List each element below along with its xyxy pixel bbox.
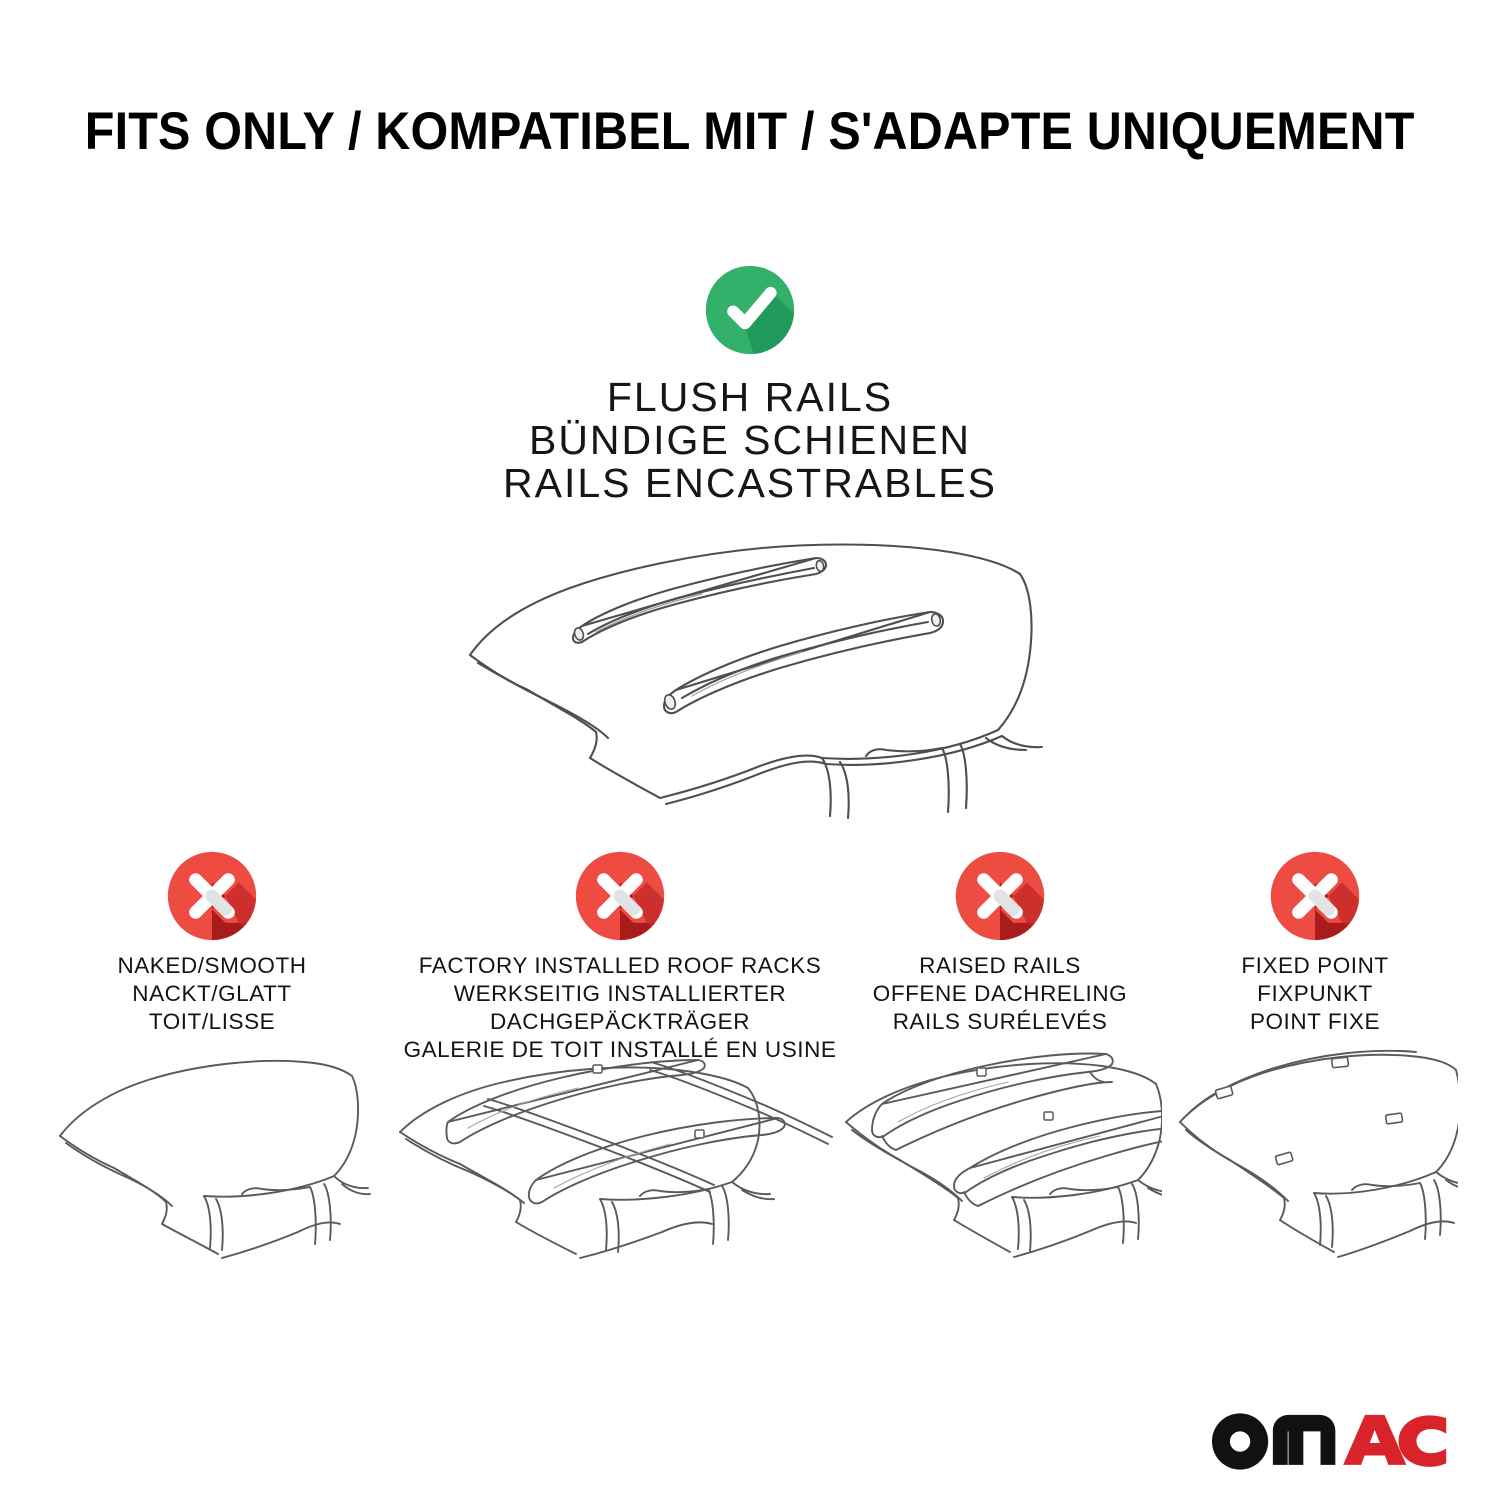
incompatible-section: NAKED/SMOOTH NACKT/GLATT TOIT/LISSE	[0, 848, 1500, 1308]
red-cross-circle-icon	[572, 848, 668, 944]
incompatible-item-factory-roof-racks: FACTORY INSTALLED ROOF RACKS WERKSEITIG …	[392, 848, 848, 1064]
badge-wrap	[1172, 848, 1458, 952]
badge-wrap	[838, 848, 1162, 952]
compatible-heading: FLUSH RAILS BÜNDIGE SCHIENEN RAILS ENCAS…	[0, 376, 1500, 505]
red-cross-circle-icon	[952, 848, 1048, 944]
car-roof-factory-rack-illustration	[392, 1044, 848, 1259]
red-cross-circle-icon	[1267, 848, 1363, 944]
car-roof-raised-rails-illustration	[838, 1044, 1162, 1259]
red-cross-circle-icon	[164, 848, 260, 944]
page-title: FITS ONLY / KOMPATIBEL MIT / S'ADAPTE UN…	[85, 104, 1415, 160]
omac-logo	[1212, 1408, 1448, 1478]
badge-wrap	[392, 848, 848, 952]
incompatible-item-raised-rails: RAISED RAILS OFFENE DACHRELING RAILS SUR…	[838, 848, 1162, 1036]
car-roof-flush-rails-illustration	[430, 500, 1090, 820]
incompatible-label: RAISED RAILS OFFENE DACHRELING RAILS SUR…	[838, 952, 1162, 1036]
incompatible-item-naked-smooth: NAKED/SMOOTH NACKT/GLATT TOIT/LISSE	[52, 848, 372, 1036]
incompatible-label: FIXED POINT FIXPUNKT POINT FIXE	[1172, 952, 1458, 1036]
car-roof-naked-illustration	[52, 1044, 372, 1259]
green-check-circle-icon	[702, 262, 798, 358]
car-roof-fixed-point-illustration	[1172, 1044, 1458, 1259]
incompatible-label: NAKED/SMOOTH NACKT/GLATT TOIT/LISSE	[52, 952, 372, 1036]
header: FITS ONLY / KOMPATIBEL MIT / S'ADAPTE UN…	[0, 104, 1500, 160]
badge-wrap	[52, 848, 372, 952]
incompatible-item-fixed-point: FIXED POINT FIXPUNKT POINT FIXE	[1172, 848, 1458, 1036]
compatible-section: FLUSH RAILS BÜNDIGE SCHIENEN RAILS ENCAS…	[0, 262, 1500, 505]
